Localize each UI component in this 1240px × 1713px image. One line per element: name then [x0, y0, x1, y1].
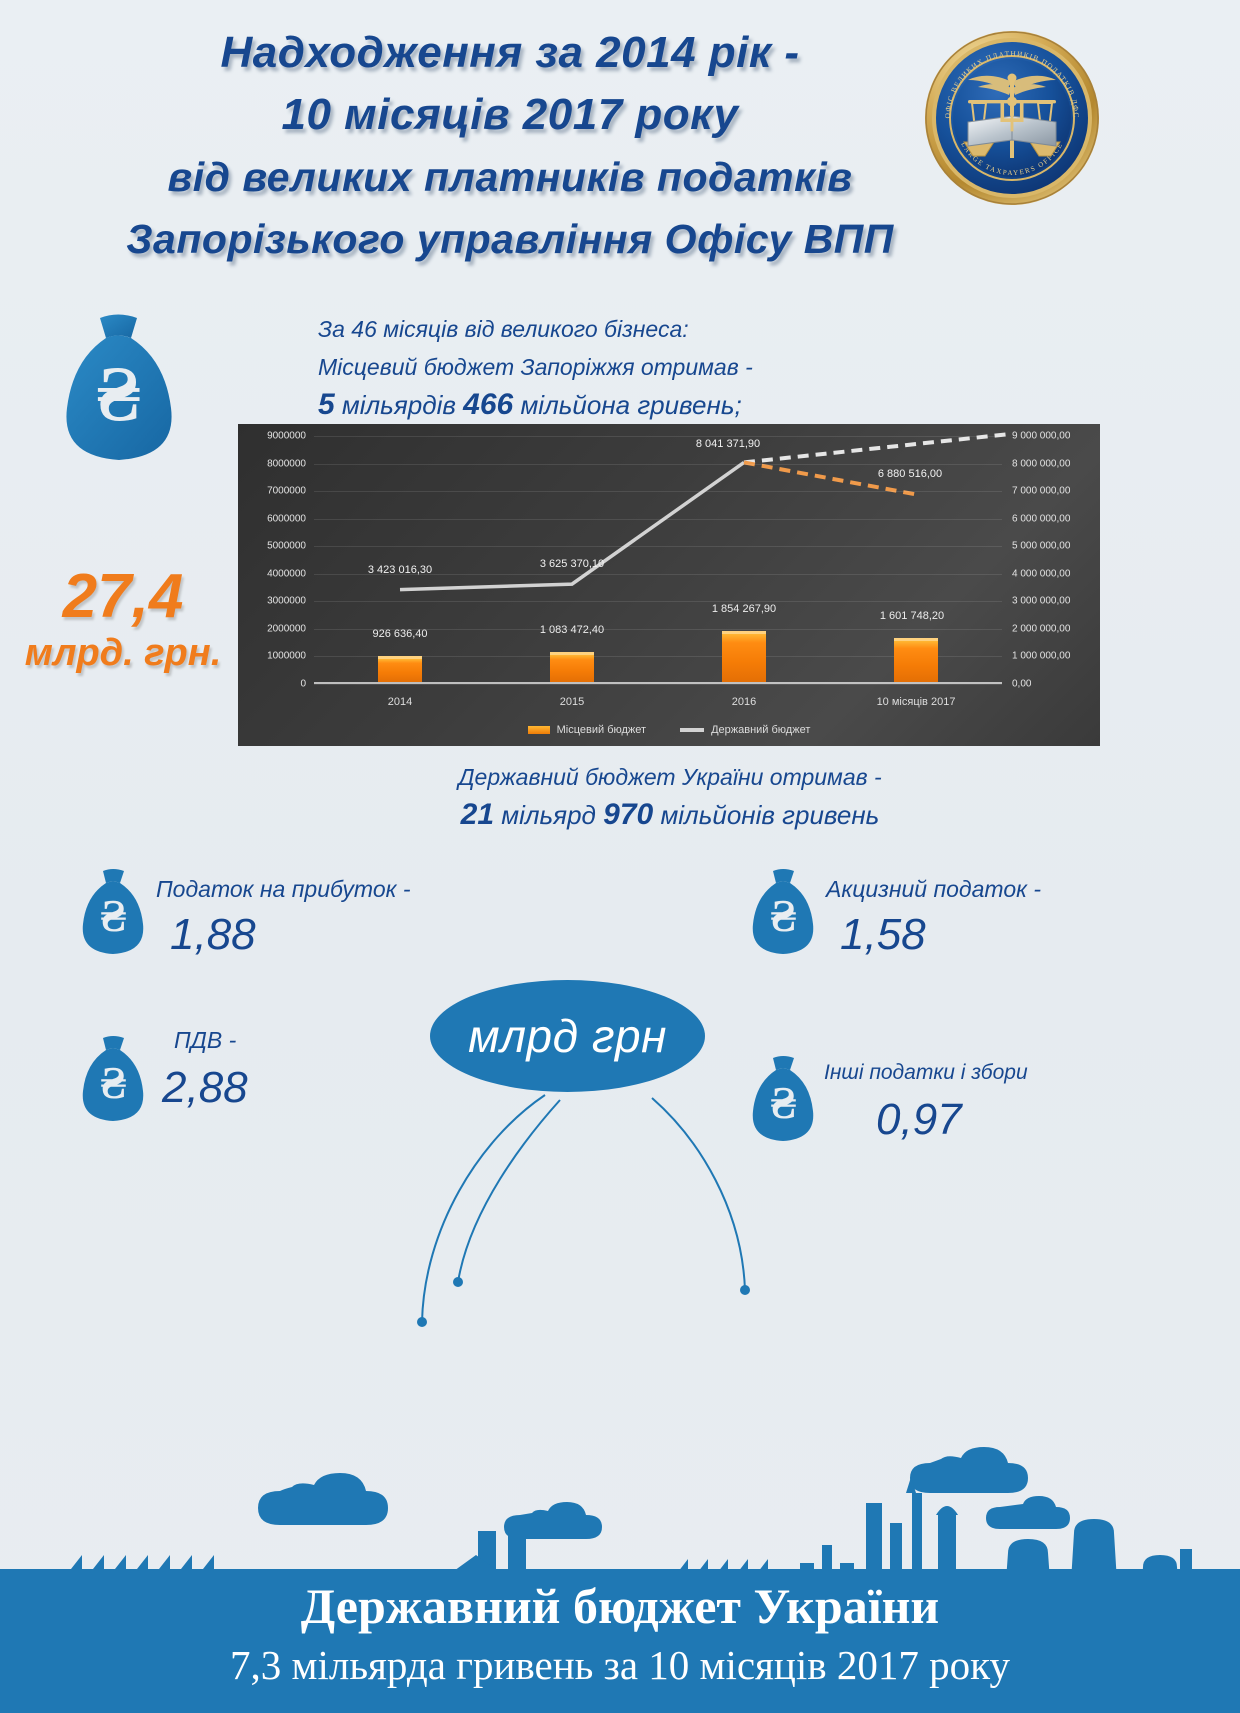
chart-gridline: [314, 684, 1002, 685]
tax-value-excise: 1,58: [840, 910, 926, 960]
title-line-3: від великих платників податків: [90, 146, 930, 208]
chart-trendline-upper: [744, 434, 1010, 462]
chart-y-tick-left: 9000000: [267, 431, 306, 442]
lead-text: За 46 місяців від великого бізнеса: Місц…: [318, 310, 1018, 424]
lead-amount-millions: 466: [463, 388, 513, 421]
chart-gridline: [314, 519, 1002, 520]
page-title: Надходження за 2014 рік - 10 місяців 201…: [90, 22, 930, 270]
chart-line-state-budget: [400, 462, 744, 589]
below-chart-line-1: Державний бюджет України отримав -: [300, 758, 1040, 796]
bottom-banner: Державний бюджет України 7,3 мільярда гр…: [0, 1569, 1240, 1713]
chart-legend: Місцевий бюджет Державний бюджет: [238, 724, 1100, 736]
tax-label-excise: Акцизний податок -: [826, 876, 1041, 903]
chart-y-tick-right: 1 000 000,00: [1012, 651, 1070, 662]
chart-y-tick-left: 5000000: [267, 541, 306, 552]
legend-item-state-budget: Державний бюджет: [680, 724, 810, 736]
chart-y-tick-right: 3 000 000,00: [1012, 596, 1070, 607]
title-line-4: Запорізького управління Офісу ВПП: [90, 208, 930, 270]
money-bag-icon-other: ₴: [748, 1055, 818, 1145]
connector-profit: [458, 1100, 560, 1282]
below-chart-text: Державний бюджет України отримав - 21 мі…: [300, 758, 1040, 834]
lead-amount-suffix: мільйона гривень;: [520, 390, 741, 420]
below-amount-billions-word: мільярд: [501, 800, 596, 830]
chart-y-tick-right: 9 000 000,00: [1012, 431, 1070, 442]
chart-y-tick-right: 0,00: [1012, 679, 1031, 690]
money-bag-icon-profit: ₴: [78, 868, 148, 958]
chart-y-tick-right: 5 000 000,00: [1012, 541, 1070, 552]
chart-y-tick-left: 8000000: [267, 458, 306, 469]
money-bag-icon-vat: ₴: [78, 1035, 148, 1125]
svg-text:₴: ₴: [770, 1077, 796, 1128]
lead-line-2: Місцевий бюджет Запоріжжя отримав -: [318, 348, 1018, 386]
chart-line-label: 8 041 371,90: [696, 438, 760, 450]
chart-bar: [722, 631, 766, 682]
title-line-2: 10 місяців 2017 року: [90, 84, 930, 146]
lead-amount-billions-word: мільярдів: [342, 390, 456, 420]
chart-line-label: 3 423 016,30: [368, 564, 432, 576]
chart-gridline: [314, 436, 1002, 437]
banner-line-1: Державний бюджет України: [0, 1569, 1240, 1637]
chart-x-tick: 2016: [732, 696, 756, 708]
lead-line-1: За 46 місяців від великого бізнеса:: [318, 310, 1018, 348]
chart-y-tick-left: 0: [300, 679, 306, 690]
legend-swatch-line-icon: [680, 728, 704, 732]
lead-amount-billions: 5: [318, 388, 335, 421]
below-chart-amount: 21 мільярд 970 мільйонів гривень: [300, 796, 1040, 834]
tax-value-other: 0,97: [876, 1095, 962, 1145]
legend-swatch-bar-icon: [528, 726, 550, 734]
money-bag-icon-excise: ₴: [748, 868, 818, 958]
chart-bar: [550, 652, 594, 682]
tax-label-vat: ПДВ -: [174, 1027, 236, 1054]
svg-text:₴: ₴: [770, 890, 796, 941]
svg-text:₴: ₴: [100, 890, 126, 941]
chart-plot-area: 90000009 000 000,0080000008 000 000,0070…: [314, 436, 1002, 684]
chart-y-tick-right: 7 000 000,00: [1012, 486, 1070, 497]
chart-bar-label: 1 601 748,20: [880, 610, 944, 622]
tax-value-vat: 2,88: [162, 1063, 248, 1113]
lead-amount: 5 мільярдів 466 мільйона гривень;: [318, 386, 1018, 424]
title-line-1: Надходження за 2014 рік -: [90, 22, 930, 84]
tax-value-profit: 1,88: [170, 910, 256, 960]
chart-y-tick-left: 7000000: [267, 486, 306, 497]
chart-gridline: [314, 601, 1002, 602]
chart-x-tick: 2014: [388, 696, 412, 708]
below-amount-millions: 970: [603, 798, 653, 831]
infographic-page: Надходження за 2014 рік - 10 місяців 201…: [0, 0, 1240, 1713]
chart-x-tick: 10 місяців 2017: [877, 696, 956, 708]
unit-bubble: млрд грн: [430, 980, 705, 1092]
chart-y-tick-right: 6 000 000,00: [1012, 513, 1070, 524]
connector-other: [652, 1098, 745, 1290]
chart-bar-label: 1 083 472,40: [540, 624, 604, 636]
below-amount-billions: 21: [461, 798, 494, 831]
chart-gridline: [314, 546, 1002, 547]
chart-y-tick-left: 1000000: [267, 651, 306, 662]
chart-y-tick-left: 3000000: [267, 596, 306, 607]
legend-label-state-budget: Державний бюджет: [711, 724, 810, 736]
chart-bar: [378, 656, 422, 682]
chart-x-tick: 2015: [560, 696, 584, 708]
chart-y-tick-left: 6000000: [267, 513, 306, 524]
money-bag-icon-large: ₴: [56, 312, 181, 467]
headline-total: 27,4 млрд. грн.: [18, 565, 228, 677]
tax-label-profit: Податок на прибуток -: [156, 876, 411, 903]
headline-value: 27,4: [63, 562, 184, 631]
chart-y-tick-left: 2000000: [267, 623, 306, 634]
chart-line-label: 6 880 516,00: [878, 468, 942, 480]
unit-bubble-label: млрд грн: [468, 1009, 667, 1063]
chart-line-label: 3 625 370,10: [540, 558, 604, 570]
chart-gridline: [314, 491, 1002, 492]
chart-y-tick-right: 4 000 000,00: [1012, 568, 1070, 579]
large-taxpayers-office-emblem: ОФІС ВЕЛИКИХ ПЛАТНИКІВ ПОДАТКІВ ДФС LARG…: [924, 30, 1100, 206]
chart-bar-label: 926 636,40: [372, 628, 427, 640]
chart-y-tick-right: 8 000 000,00: [1012, 458, 1070, 469]
chart-y-tick-left: 4000000: [267, 568, 306, 579]
legend-item-local-budget: Місцевий бюджет: [528, 724, 646, 736]
svg-text:₴: ₴: [96, 350, 140, 437]
legend-label-local-budget: Місцевий бюджет: [557, 724, 646, 736]
svg-text:₴: ₴: [100, 1057, 126, 1108]
below-amount-suffix: мільйонів гривень: [660, 800, 879, 830]
banner-line-2: 7,3 мільярда гривень за 10 місяців 2017 …: [0, 1637, 1240, 1693]
headline-unit: млрд. грн.: [18, 629, 228, 677]
chart-bar: [894, 638, 938, 682]
chart-y-tick-right: 2 000 000,00: [1012, 623, 1070, 634]
budget-chart: 90000009 000 000,0080000008 000 000,0070…: [238, 424, 1100, 746]
tax-label-other: Інші податки і збори: [824, 1061, 1028, 1085]
chart-gridline: [314, 464, 1002, 465]
chart-bar-label: 1 854 267,90: [712, 603, 776, 615]
